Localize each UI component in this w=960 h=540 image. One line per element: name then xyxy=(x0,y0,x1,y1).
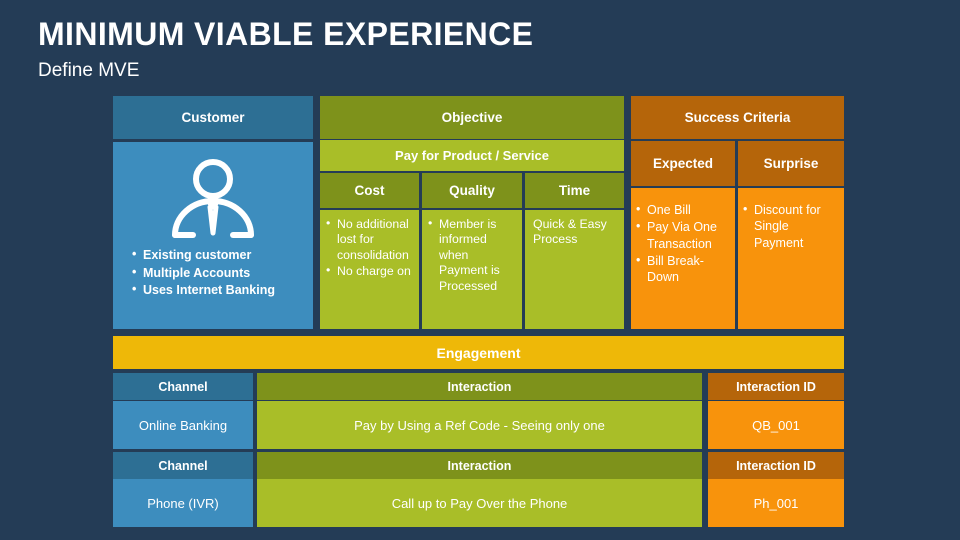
customer-body: Existing customer Multiple Accounts Uses… xyxy=(113,142,313,329)
list-item: One Bill xyxy=(647,202,731,218)
success-column-header-expected: Expected xyxy=(631,141,735,186)
slide-canvas: MINIMUM VIABLE EXPERIENCE Define MVE Cus… xyxy=(0,0,960,540)
success-column-header-surprise: Surprise xyxy=(738,141,844,186)
objective-time-text: Quick & Easy Process xyxy=(525,210,624,248)
success-column-body-expected: One Bill Pay Via One Transaction Bill Br… xyxy=(631,188,735,329)
objective-column-body-time: Quick & Easy Process xyxy=(525,210,624,329)
table2-header-channel: Channel xyxy=(113,452,253,479)
success-criteria-header: Success Criteria xyxy=(631,96,844,139)
table-row: Online Banking xyxy=(113,401,253,449)
list-item: Multiple Accounts xyxy=(143,265,307,282)
objective-column-body-quality: Member is informed when Payment is Proce… xyxy=(422,210,522,329)
table-row: Phone (IVR) xyxy=(113,479,253,527)
list-item: Pay Via One Transaction xyxy=(647,219,731,252)
table1-header-interaction-id: Interaction ID xyxy=(708,373,844,400)
list-item: No additional lost for consolidation xyxy=(337,217,415,263)
objective-column-header-time: Time xyxy=(525,173,624,208)
objective-subheader: Pay for Product / Service xyxy=(320,140,624,171)
table-row: Pay by Using a Ref Code - Seeing only on… xyxy=(257,401,702,449)
objective-header: Objective xyxy=(320,96,624,139)
page-title: MINIMUM VIABLE EXPERIENCE xyxy=(38,16,533,53)
list-item: Existing customer xyxy=(143,247,307,264)
success-column-body-surprise: Discount for Single Payment xyxy=(738,188,844,329)
objective-cost-list: No additional lost for consolidation No … xyxy=(320,210,419,280)
objective-column-header-quality: Quality xyxy=(422,173,522,208)
objective-column-body-cost: No additional lost for consolidation No … xyxy=(320,210,419,329)
objective-quality-list: Member is informed when Payment is Proce… xyxy=(422,210,522,294)
table2-header-interaction-id: Interaction ID xyxy=(708,452,844,479)
engagement-header: Engagement xyxy=(113,336,844,369)
list-item: Discount for Single Payment xyxy=(754,202,840,251)
success-surprise-list: Discount for Single Payment xyxy=(738,188,844,251)
list-item: No charge on xyxy=(337,264,415,279)
customer-header: Customer xyxy=(113,96,313,139)
table-row: Call up to Pay Over the Phone xyxy=(257,479,702,527)
objective-column-header-cost: Cost xyxy=(320,173,419,208)
table-row: QB_001 xyxy=(708,401,844,449)
success-expected-list: One Bill Pay Via One Transaction Bill Br… xyxy=(631,188,735,285)
list-item: Member is informed when Payment is Proce… xyxy=(439,217,518,294)
table-row: Ph_001 xyxy=(708,479,844,527)
table1-header-interaction: Interaction xyxy=(257,373,702,400)
page-subtitle: Define MVE xyxy=(38,60,139,82)
list-item: Bill Break-Down xyxy=(647,253,731,286)
table2-header-interaction: Interaction xyxy=(257,452,702,479)
business-person-icon xyxy=(113,142,313,247)
list-item: Uses Internet Banking xyxy=(143,282,307,299)
customer-bullet-list: Existing customer Multiple Accounts Uses… xyxy=(113,247,313,299)
table1-header-channel: Channel xyxy=(113,373,253,400)
